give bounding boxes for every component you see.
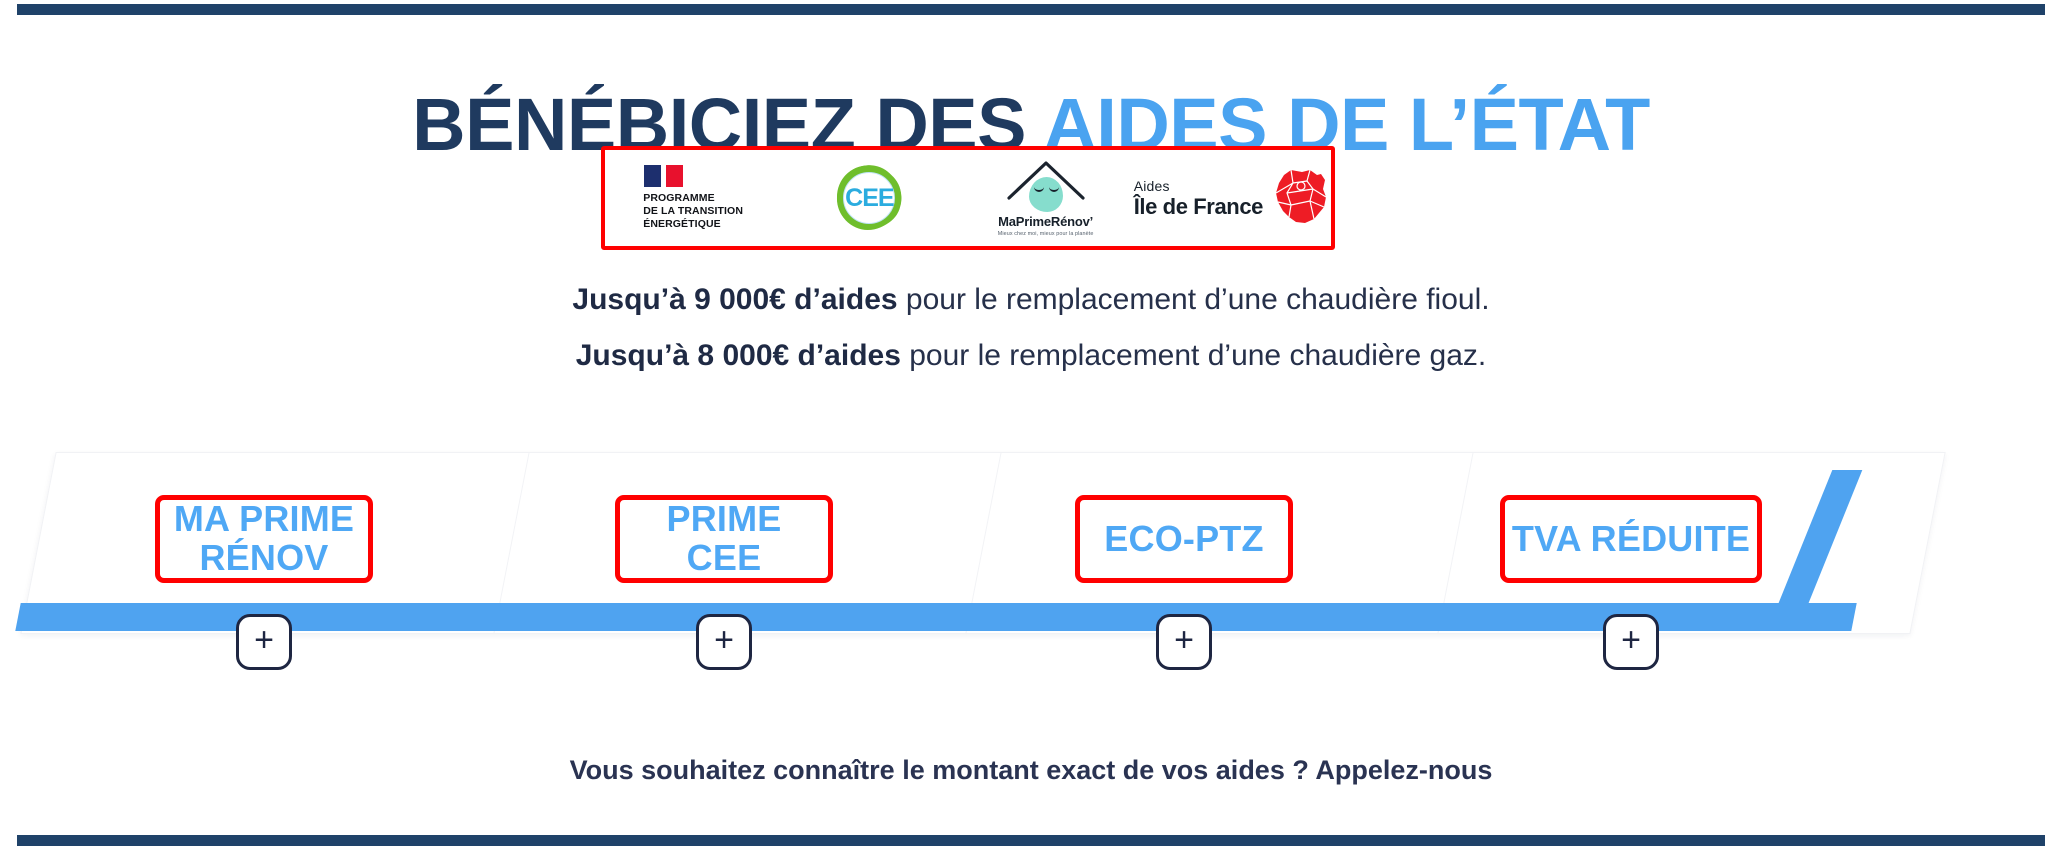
aid-card-ma-prime-renov[interactable]: MA PRIME RÉNOV [155, 495, 373, 583]
aid-card-1-line-1: MA PRIME [174, 500, 354, 539]
aid-amount-line-gaz: Jusqu’à 8 000€ d’aides pour le remplacem… [0, 339, 2062, 373]
aid-card-1-line-2: RÉNOV [174, 539, 354, 578]
plus-icon: + [1621, 623, 1641, 657]
logo-cee: CEE [781, 150, 957, 246]
contact-prompt: Vous souhaitez connaître le montant exac… [0, 755, 2062, 786]
maprimerenov-mark-icon [1007, 160, 1085, 212]
pte-line-1: PROGRAMME [643, 192, 743, 205]
plus-icon: + [254, 623, 274, 657]
pte-line-3: ÉNERGÉTIQUE [643, 218, 743, 231]
partner-logo-strip: PROGRAMME DE LA TRANSITION ÉNERGÉTIQUE C… [601, 146, 1335, 250]
top-navy-rule [17, 4, 2045, 15]
maprimerenov-label: MaPrimeRénov’ [998, 214, 1093, 229]
aids-banner: MA PRIME RÉNOV + PRIME CEE + ECO-PTZ + T… [0, 438, 2062, 668]
plus-icon: + [714, 623, 734, 657]
aid-amount-fioul-rest: pour le remplacement d’une chaudière fio… [898, 283, 1490, 316]
pte-line-2: DE LA TRANSITION [643, 205, 743, 218]
aid-card-prime-cee[interactable]: PRIME CEE [615, 495, 833, 583]
smile-eye-left-icon [1034, 184, 1044, 192]
aid-amount-fioul-bold: Jusqu’à 9 000€ d’aides [572, 283, 897, 316]
aid-amount-gaz-rest: pour le remplacement d’une chaudière gaz… [901, 339, 1486, 372]
logo-aides-ile-de-france: Aides Île de France [1134, 150, 1331, 246]
logo-maprimerenov: MaPrimeRénov’ Mieux chez moi, mieux pour… [957, 150, 1133, 246]
aid-card-4-line-1: TVA RÉDUITE [1512, 520, 1750, 559]
aid-card-3-line-1: ECO-PTZ [1104, 520, 1263, 559]
aid-card-2-line-2: CEE [666, 539, 781, 578]
aid-card-eco-ptz[interactable]: ECO-PTZ [1075, 495, 1293, 583]
cee-badge-icon: CEE [837, 166, 901, 230]
plus-icon: + [1174, 623, 1194, 657]
aid-amount-gaz-bold: Jusqu’à 8 000€ d’aides [576, 339, 901, 372]
expand-button-tva-reduite[interactable]: + [1603, 614, 1659, 670]
expand-button-prime-cee[interactable]: + [696, 614, 752, 670]
aid-card-tva-reduite[interactable]: TVA RÉDUITE [1500, 495, 1762, 583]
bottom-navy-rule [17, 835, 2045, 846]
expand-button-ma-prime-renov[interactable]: + [236, 614, 292, 670]
idf-line-2: Île de France [1134, 196, 1263, 218]
cee-label: CEE [845, 186, 893, 211]
aid-amount-line-fioul: Jusqu’à 9 000€ d’aides pour le remplacem… [0, 283, 2062, 317]
expand-button-eco-ptz[interactable]: + [1156, 614, 1212, 670]
idf-line-1: Aides [1134, 179, 1263, 193]
maprimerenov-slogan: Mieux chez moi, mieux pour la planète [998, 231, 1094, 237]
logo-programme-transition-energetique: PROGRAMME DE LA TRANSITION ÉNERGÉTIQUE [605, 150, 781, 246]
aid-card-2-line-1: PRIME [666, 500, 781, 539]
ile-de-france-map-icon [1269, 167, 1331, 229]
french-flag-icon [644, 165, 683, 187]
smile-eye-right-icon [1049, 184, 1059, 192]
